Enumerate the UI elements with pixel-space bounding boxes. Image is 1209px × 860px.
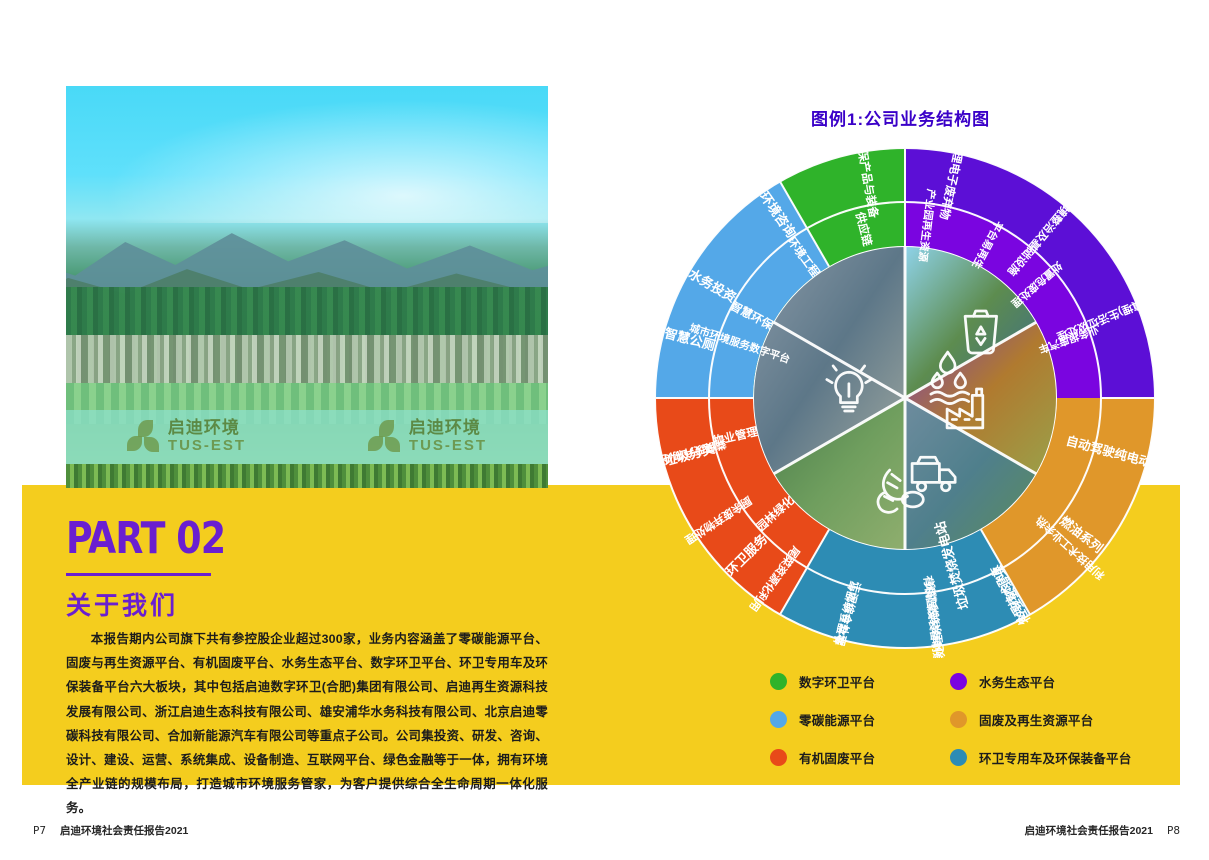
leaf-logo-icon: [127, 420, 161, 454]
legend-label: 零碳能源平台: [799, 710, 875, 729]
page-title: 关于我们: [66, 586, 566, 622]
watermark-logo-left: 启迪环境 TUS-EST: [127, 419, 246, 455]
grass-strip: [66, 464, 548, 488]
legend-label: 环卫专用车及环保装备平台: [979, 748, 1131, 767]
legend-label: 有机固废平台: [799, 748, 875, 767]
legend-item-organic[interactable]: 有机固废平台: [770, 748, 950, 767]
legend-item-solidwaste[interactable]: 固废及再生资源平台: [950, 710, 1180, 729]
watermark-logo-right: 启迪环境 TUS-EST: [368, 419, 487, 455]
legend-item-water[interactable]: 水务生态平台: [950, 672, 1180, 691]
body-paragraph: 本报告期内公司旗下共有参控股企业超过300家，业务内容涵盖了零碳能源平台、固废与…: [66, 627, 548, 821]
legend-dot-icon: [770, 749, 787, 766]
footer-text-left: 启迪环境社会责任报告2021: [60, 825, 188, 837]
sky-haze: [66, 86, 548, 223]
watermark-cn-text: 启迪环境: [409, 418, 481, 437]
chart-legend: 数字环卫平台 水务生态平台 零碳能源平台 固废及再生资源平台 有机固废平台 环卫…: [770, 672, 1170, 767]
legend-label: 水务生态平台: [979, 672, 1055, 691]
report-page: 启迪环境 TUS-EST 启迪环境 TUS-EST PART 02 关于我们 本…: [0, 0, 1209, 860]
legend-dot-icon: [770, 711, 787, 728]
leaf-logo-icon: [368, 420, 402, 454]
legend-item-zerocarbon[interactable]: 零碳能源平台: [770, 710, 950, 729]
watermark-en-text: TUS-EST: [409, 437, 487, 454]
legend-label: 固废及再生资源平台: [979, 710, 1093, 729]
footer-right: 启迪环境社会责任报告2021P8: [1025, 823, 1180, 838]
page-number-left: P7: [33, 825, 46, 837]
legend-dot-icon: [950, 673, 967, 690]
legend-item-digital[interactable]: 数字环卫平台: [770, 672, 950, 691]
wheel-svg: 智慧公厕 垃圾分类 环卫服务 水务投资 环境咨询 环保产品与装备 处理电子废弃物…: [645, 138, 1165, 658]
heading-divider: [66, 573, 211, 576]
town-buildings: [66, 335, 548, 387]
section-heading-block: PART 02 关于我们: [66, 517, 566, 622]
landscape-photo: 启迪环境 TUS-EST 启迪环境 TUS-EST: [66, 86, 548, 488]
legend-dot-icon: [770, 673, 787, 690]
business-structure-wheel: 智慧公厕 垃圾分类 环卫服务 水务投资 环境咨询 环保产品与装备 处理电子废弃物…: [645, 138, 1165, 658]
watermark-en-text: TUS-EST: [168, 437, 246, 454]
legend-label: 数字环卫平台: [799, 672, 875, 691]
footer-text-right: 启迪环境社会责任报告2021: [1025, 825, 1153, 837]
chart-title: 图例1:公司业务结构图: [811, 105, 990, 130]
page-number-right: P8: [1167, 825, 1180, 837]
page-gutter: [0, 0, 22, 860]
legend-item-vehicles[interactable]: 环卫专用车及环保装备平台: [950, 748, 1180, 767]
legend-dot-icon: [950, 711, 967, 728]
footer-left: P7启迪环境社会责任报告2021: [33, 823, 188, 838]
legend-dot-icon: [950, 749, 967, 766]
photo-watermark-band: 启迪环境 TUS-EST 启迪环境 TUS-EST: [66, 410, 548, 464]
watermark-cn-text: 启迪环境: [168, 418, 240, 437]
part-number: PART 02: [66, 517, 526, 561]
